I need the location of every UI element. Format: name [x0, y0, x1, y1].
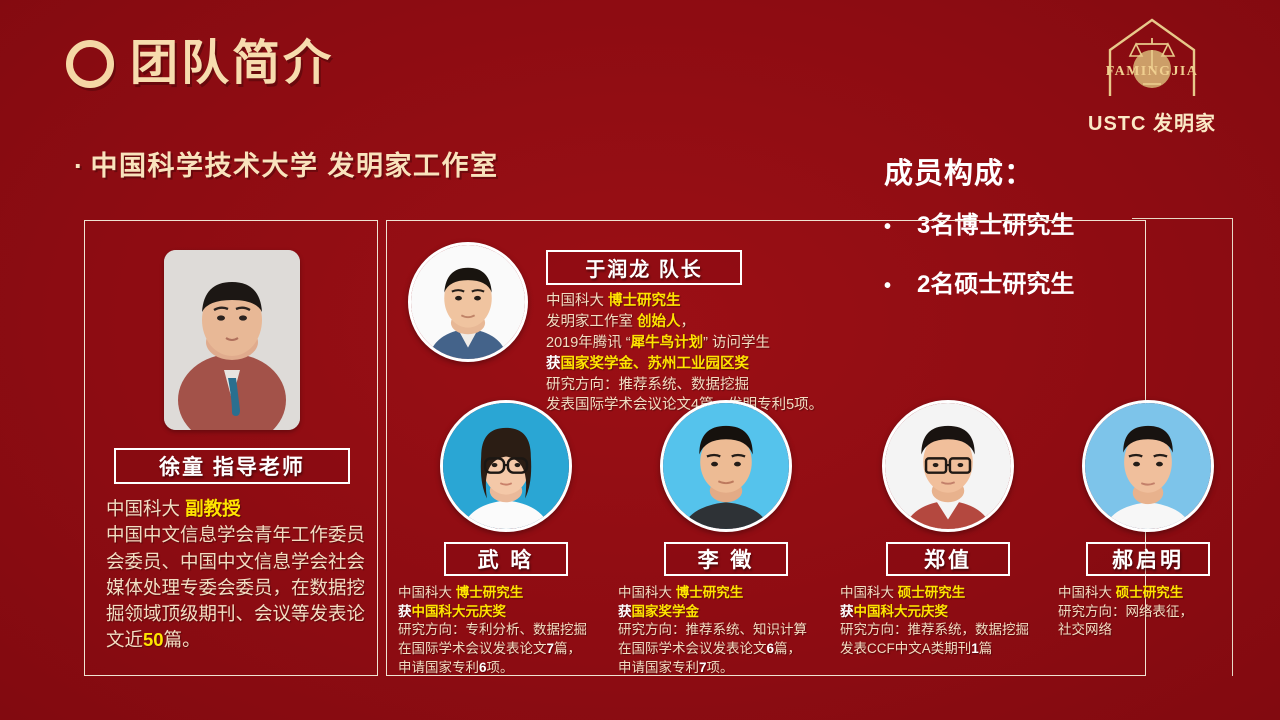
leader-awards: 国家奖学金、苏州工业园区奖 [561, 356, 750, 372]
page-title: 团队简介 [66, 40, 334, 88]
member-output-a-prefix: 在国际学术会议发表论文 [398, 641, 547, 656]
member-output-a-count: 1 [971, 641, 979, 656]
member-bio: 中国科大 博士研究生 获国家奖学金 研究方向：推荐系统、知识计算 在国际学术会议… [618, 584, 834, 677]
member-output-a-suffix: 篇 [979, 641, 993, 656]
member-award-prefix: 获 [398, 604, 412, 619]
member-output-b-count: 7 [699, 660, 707, 675]
member-namebox: 郑值 [886, 542, 1010, 576]
advisor-bio-part2: 篇。 [164, 629, 201, 650]
leader-line3-prefix: 2019年腾讯 “ [546, 335, 631, 351]
page-title-text: 团队简介 [130, 40, 334, 88]
member-bio: 中国科大 硕士研究生 获中国科大元庆奖 研究方向：推荐系统，数据挖掘 发表CCF… [840, 584, 1056, 659]
logo-mark-icon: FAMINGJIA [1096, 14, 1208, 100]
slide-root: 团队简介 ·中国科学技术大学 发明家工作室 FAMINGJIA USTC 发明家… [0, 0, 1280, 720]
member-affiliation: 中国科大 [840, 585, 898, 600]
member-card: 李 徵 中国科大 博士研究生 获国家奖学金 研究方向：推荐系统、知识计算 在国际… [618, 400, 834, 677]
member-output-b-prefix: 申请国家专利 [398, 660, 479, 675]
leader-line2-prefix: 发明家工作室 [546, 314, 637, 330]
ring-icon [66, 40, 114, 88]
member-degree: 硕士研究生 [898, 585, 966, 600]
advisor-title: 副教授 [185, 498, 241, 519]
logo-wordmark: FAMINGJIA [1096, 64, 1208, 80]
advisor-namebox: 徐童 指导老师 [114, 448, 350, 484]
member-degree: 博士研究生 [676, 585, 744, 600]
member-award: 中国科大元庆奖 [854, 604, 949, 619]
member-output-a-prefix: 发表CCF中文A类期刊 [840, 641, 971, 656]
leader-avatar [408, 242, 528, 362]
member-output-a-prefix: 在国际学术会议发表论文 [618, 641, 767, 656]
member-namebox: 武 晗 [444, 542, 568, 576]
subtitle-text: 中国科学技术大学 发明家工作室 [91, 151, 499, 181]
member-output-b-prefix: 申请国家专利 [618, 660, 699, 675]
member-bio: 中国科大 硕士研究生 研究方向：网络表征， 社交网络 [1058, 584, 1238, 640]
member-bio: 中国科大 博士研究生 获中国科大元庆奖 研究方向：专利分析、数据挖掘 在国际学术… [398, 584, 614, 677]
member-output-a-suffix: 篇， [554, 641, 581, 656]
leader-line3-suffix: ” 访问学生 [703, 335, 770, 351]
advisor-affiliation: 中国科大 [106, 498, 185, 519]
member-namebox: 郝启明 [1086, 542, 1210, 576]
leader-program: 犀牛鸟计划 [631, 335, 704, 351]
member-award-prefix: 获 [618, 604, 632, 619]
member-avatar [1082, 400, 1214, 532]
advisor-bio: 中国科大 副教授 中国中文信息学会青年工作委员会委员、中国中文信息学会社会媒体处… [106, 496, 374, 654]
member-affiliation: 中国科大 [618, 585, 676, 600]
member-output-b-count: 6 [479, 660, 487, 675]
member-avatar [440, 400, 572, 532]
member-direction: 研究方向：网络表征， [1058, 604, 1193, 619]
leader-line1-prefix: 中国科大 [546, 293, 608, 309]
leader-direction: 研究方向：推荐系统、数据挖掘 [546, 377, 749, 393]
member-direction: 研究方向：推荐系统、知识计算 [618, 622, 807, 637]
member-award-prefix: 获 [840, 604, 854, 619]
member-award: 国家奖学金 [632, 604, 700, 619]
leader-degree: 博士研究生 [608, 293, 681, 309]
leader-namebox: 于润龙 队长 [546, 250, 742, 285]
member-output-a-prefix: 社交网络 [1058, 622, 1112, 637]
logo: FAMINGJIA USTC 发明家 [1062, 14, 1242, 136]
member-output-b-suffix: 项。 [707, 660, 734, 675]
member-avatar [660, 400, 792, 532]
member-card: 武 晗 中国科大 博士研究生 获中国科大元庆奖 研究方向：专利分析、数据挖掘 在… [398, 400, 614, 677]
leader-bio: 中国科大 博士研究生 发明家工作室 创始人， 2019年腾讯 “犀牛鸟计划” 访… [546, 291, 966, 416]
member-degree: 硕士研究生 [1116, 585, 1184, 600]
subtitle-bullet-icon: · [74, 151, 85, 181]
advisor-paper-count: 50 [143, 629, 164, 650]
member-output-a-suffix: 篇， [774, 641, 801, 656]
subtitle: ·中国科学技术大学 发明家工作室 [74, 144, 499, 183]
member-card: 郑值 中国科大 硕士研究生 获中国科大元庆奖 研究方向：推荐系统，数据挖掘 发表… [840, 400, 1056, 659]
member-card: 郝启明 中国科大 硕士研究生 研究方向：网络表征， 社交网络 [1058, 400, 1238, 640]
member-avatar [882, 400, 1014, 532]
member-award: 中国科大元庆奖 [412, 604, 507, 619]
member-degree: 博士研究生 [456, 585, 524, 600]
member-affiliation: 中国科大 [1058, 585, 1116, 600]
member-output-b-suffix: 项。 [487, 660, 514, 675]
member-output-a-count: 6 [767, 641, 775, 656]
member-output-a-count: 7 [547, 641, 555, 656]
member-direction: 研究方向：推荐系统，数据挖掘 [840, 622, 1029, 637]
member-direction: 研究方向：专利分析、数据挖掘 [398, 622, 587, 637]
member-namebox: 李 徵 [664, 542, 788, 576]
member-affiliation: 中国科大 [398, 585, 456, 600]
logo-name: USTC 发明家 [1062, 107, 1242, 136]
leader-line2-suffix: ， [681, 314, 696, 330]
advisor-photo [164, 250, 300, 430]
leader-role: 创始人 [637, 314, 681, 330]
composition-heading: 成员构成： [884, 150, 1034, 192]
leader-line4-prefix: 获 [546, 356, 561, 372]
